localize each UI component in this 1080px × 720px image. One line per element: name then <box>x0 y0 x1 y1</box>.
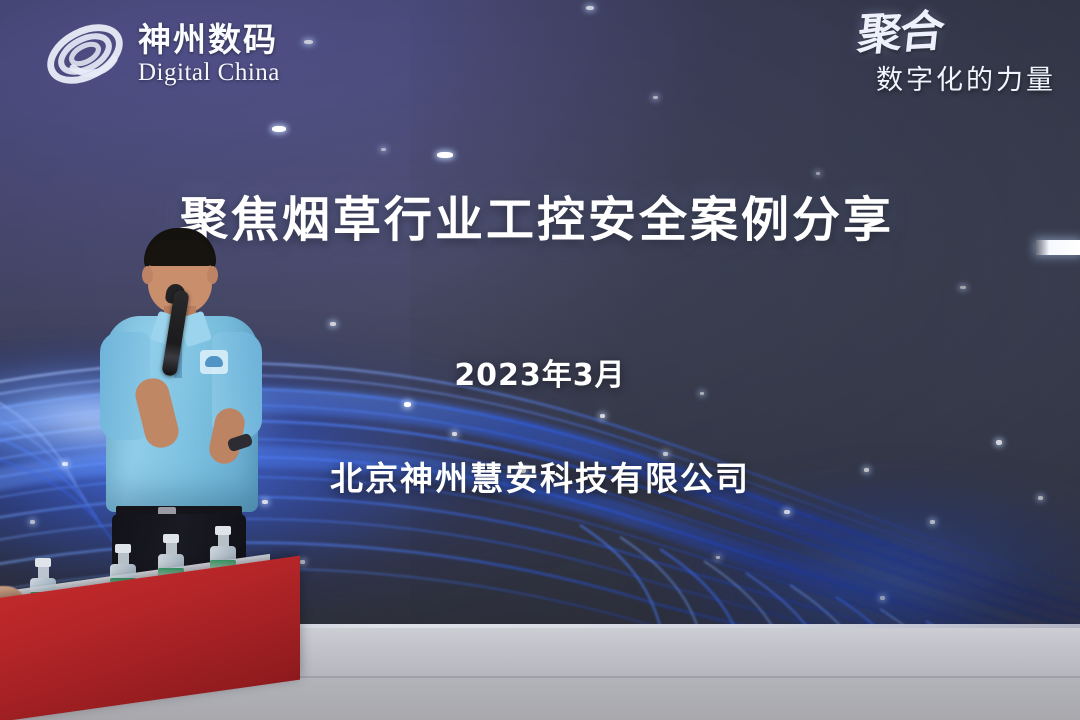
digital-china-logo: 神州数码 Digital China <box>42 14 280 94</box>
event-logo: 聚合 数字化的力量 <box>858 14 1056 97</box>
logo-name-en: Digital China <box>138 60 280 85</box>
presenter-ear-left <box>142 266 153 284</box>
foreground-table <box>0 566 300 720</box>
event-logo-subtitle: 数字化的力量 <box>858 58 1056 97</box>
presenter-ear-right <box>207 266 218 284</box>
logo-name-cn: 神州数码 <box>138 23 280 56</box>
presenter-shirt-logo <box>200 350 228 374</box>
photo-stage: 神州数码 Digital China 聚合 数字化的力量 聚焦烟草行业工控安全案… <box>0 0 1080 720</box>
event-logo-brush-text: 聚合 <box>856 12 945 56</box>
digital-china-swirl-icon <box>42 14 128 94</box>
presenter-hair-front <box>146 240 214 266</box>
